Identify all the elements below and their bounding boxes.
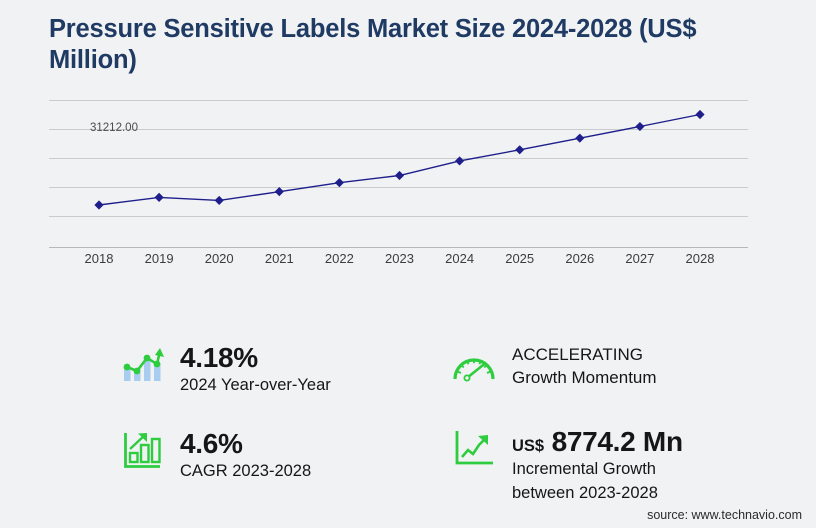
x-axis-tick-label: 2022 — [325, 251, 354, 266]
stat-incremental-growth: US$ 8774.2 Mn Incremental Growth between… — [450, 426, 683, 505]
chart-data-point — [215, 196, 224, 205]
stat-yoy: 4.18% 2024 Year-over-Year — [118, 342, 331, 397]
chart-data-point — [94, 200, 103, 209]
line-growth-arrow-icon — [450, 426, 498, 470]
x-axis-tick-label: 2019 — [145, 251, 174, 266]
x-axis-tick-label: 2018 — [85, 251, 114, 266]
x-axis-tick-label: 2023 — [385, 251, 414, 266]
chart-data-point — [575, 134, 584, 143]
stat-cagr: 4.6% CAGR 2023-2028 — [118, 428, 311, 483]
stat-cagr-caption: CAGR 2023-2028 — [180, 461, 311, 483]
stat-incremental-caption2: between 2023-2028 — [512, 483, 683, 505]
stat-incremental-unit: US$ — [512, 437, 544, 455]
stat-cagr-value: 4.6% — [180, 428, 311, 459]
stat-yoy-caption: 2024 Year-over-Year — [180, 375, 331, 397]
chart-data-point — [455, 156, 464, 165]
chart-plot-area: 31212.00 — [49, 100, 748, 248]
chart-data-point — [515, 145, 524, 154]
chart-data-point — [275, 187, 284, 196]
speedometer-icon — [450, 344, 498, 388]
stat-incremental-caption: Incremental Growth — [512, 459, 683, 481]
stat-incremental-value: 8774.2 Mn — [552, 426, 683, 457]
chart-data-point — [695, 110, 704, 119]
x-axis-tick-label: 2024 — [445, 251, 474, 266]
x-axis-tick-label: 2027 — [625, 251, 654, 266]
chart-data-point — [395, 171, 404, 180]
chart-data-point — [155, 193, 164, 202]
x-axis-tick-label: 2025 — [505, 251, 534, 266]
x-axis-tick-label: 2020 — [205, 251, 234, 266]
market-size-line-chart: 31212.00 2018201920202021202220232024202… — [0, 96, 816, 281]
data-point-label: 31212.00 — [90, 122, 138, 134]
chart-data-point — [335, 178, 344, 187]
stat-yoy-value: 4.18% — [180, 342, 331, 373]
chart-x-axis: 2018201920202021202220232024202520262027… — [49, 251, 748, 275]
bar-chart-arrow-icon — [118, 428, 166, 472]
x-axis-tick-label: 2028 — [686, 251, 715, 266]
stat-momentum-value: ACCELERATING — [512, 344, 657, 367]
stat-growth-momentum: ACCELERATING Growth Momentum — [450, 344, 657, 390]
source-label: source: www.technavio.com — [647, 508, 802, 522]
key-stats-panel: 4.18% 2024 Year-over-Year — [0, 318, 816, 508]
stat-momentum-caption: Growth Momentum — [512, 367, 657, 390]
page-title: Pressure Sensitive Labels Market Size 20… — [49, 14, 739, 76]
chart-series-path — [49, 100, 748, 248]
x-axis-tick-label: 2021 — [265, 251, 294, 266]
chart-data-point — [635, 122, 644, 131]
x-axis-tick-label: 2026 — [565, 251, 594, 266]
bar-chart-trend-up-icon — [118, 342, 166, 386]
